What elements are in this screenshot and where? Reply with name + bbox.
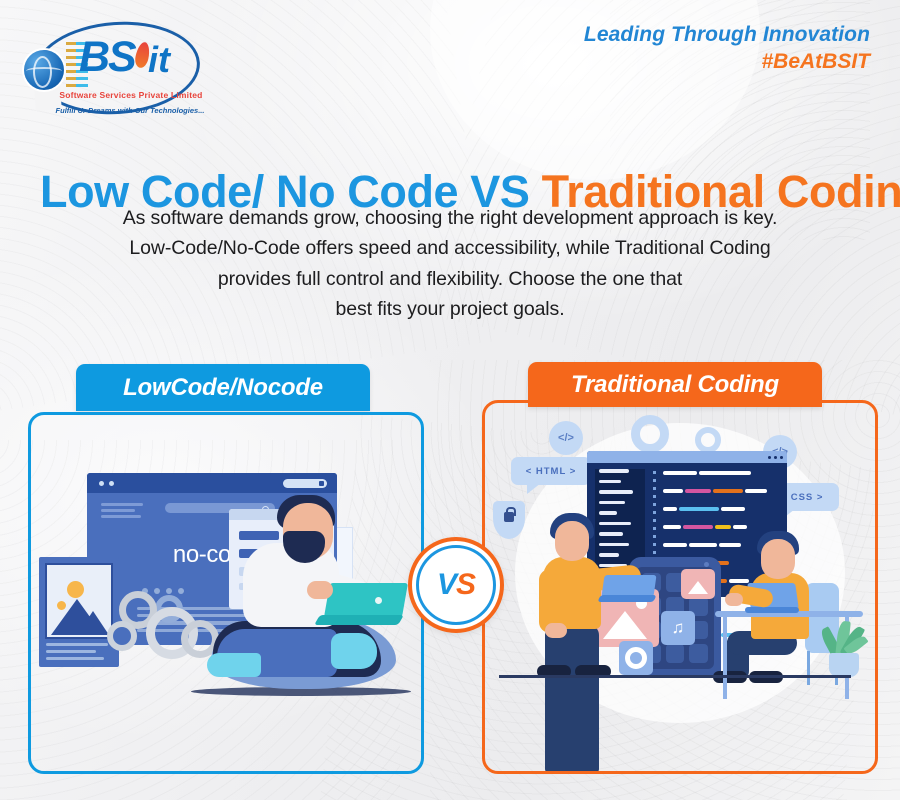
dev-b-head	[761, 539, 795, 579]
person-sock	[207, 653, 261, 677]
tagline-line-1: Leading Through Innovation	[584, 22, 870, 48]
image-tile-small-mountain-icon	[688, 581, 708, 594]
company-logo: BS it Software Services Private Limited …	[16, 14, 201, 119]
laptop-base	[314, 615, 404, 625]
person-shoe	[331, 633, 377, 669]
vs-badge: VS	[408, 537, 504, 633]
vs-letter-v: V	[437, 568, 456, 601]
intro-paragraph: As software demands grow, choosing the r…	[55, 203, 845, 325]
plant-pot	[829, 653, 859, 677]
vs-badge-label: VS	[437, 568, 475, 602]
browser-toolbar-pill	[283, 479, 327, 488]
intro-line-4: best fits your project goals.	[55, 294, 845, 324]
editor-titlebar	[587, 451, 787, 463]
laptop-screen	[324, 583, 408, 617]
html-tag-bubble: < HTML >	[511, 457, 591, 485]
mountain-small-icon	[77, 611, 109, 635]
card-lowcode-nocode: no-code/	[28, 412, 424, 774]
tagline-hashtag: #BeAtBSIT	[584, 49, 870, 75]
desk-leg-1	[723, 615, 727, 699]
logo-subtitle: Software Services Private Limited	[56, 90, 206, 100]
globe-icon	[24, 50, 64, 90]
poster-canvas: BS it Software Services Private Limited …	[0, 0, 900, 800]
browser-dot-2	[109, 481, 114, 486]
music-tile: ♫	[661, 611, 695, 645]
intro-line-3: provides full control and flexibility. C…	[55, 264, 845, 294]
dev-b-hand	[725, 593, 743, 606]
code-tag-icon-1: </>	[549, 421, 583, 455]
dev-a-laptop-icon	[599, 575, 655, 605]
dev-a-laptop-base	[597, 595, 656, 602]
sun-icon	[67, 581, 84, 598]
dev-a-head	[555, 521, 589, 561]
settings-gear-icon	[625, 647, 647, 669]
desk-laptop-base	[745, 607, 799, 613]
panel-chip-1	[239, 531, 279, 540]
traditional-illustration: </> </> < HTML > < CSS >	[485, 403, 875, 771]
browser-dot-1	[99, 481, 104, 486]
floor-line	[499, 675, 851, 678]
vs-letter-s: S	[456, 568, 475, 601]
logo-tagline: Fulfill Ur Dreams with Our Technologies.…	[52, 106, 208, 115]
intro-line-2: Low-Code/No-Code offers speed and access…	[55, 233, 845, 263]
intro-line-1: As software demands grow, choosing the r…	[55, 203, 845, 233]
chair-leg-1	[807, 651, 810, 685]
header-tagline: Leading Through Innovation #BeAtBSIT	[584, 22, 870, 74]
dev-a-legs	[545, 625, 599, 771]
dev-a-hand	[545, 623, 567, 638]
image-card	[39, 557, 119, 667]
browser-titlebar	[87, 473, 337, 493]
logo-suffix-text: it	[148, 42, 170, 78]
image-tile-small	[681, 569, 715, 599]
image-placeholder	[45, 563, 113, 639]
dev-a-laptop-screen	[601, 575, 656, 597]
potted-plant	[821, 613, 865, 677]
gear-icon-d	[107, 621, 137, 651]
logo-bars-accent-icon	[66, 42, 76, 90]
laptop-logo-dot	[375, 597, 382, 604]
card-traditional-coding: </> </> < HTML > < CSS >	[482, 400, 878, 774]
card-header-lowcode: LowCode/Nocode	[76, 364, 370, 411]
browser-left-lines	[101, 503, 143, 521]
logo-main-text: BS	[79, 36, 135, 79]
developer-standing	[533, 511, 625, 677]
gear-icon-large	[631, 415, 669, 453]
person-hand	[307, 581, 333, 599]
gear-icon-small	[695, 427, 721, 453]
lowcode-illustration: no-code/	[31, 415, 421, 771]
